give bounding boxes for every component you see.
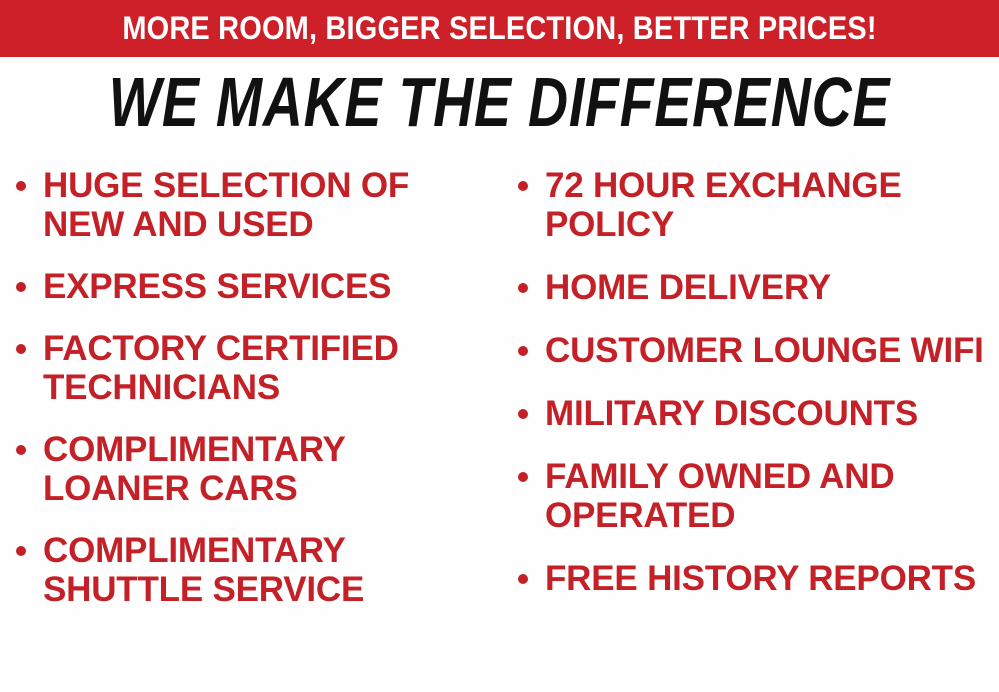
- bullet-dot-icon: [16, 445, 26, 455]
- list-item-label: 72 HOUR EXCHANGE POLICY: [545, 166, 999, 244]
- list-item: CUSTOMER LOUNGE WIFI: [518, 331, 999, 370]
- list-item-label: COMPLIMENTARY SHUTTLE SERVICE: [43, 531, 494, 609]
- bullet-dot-icon: [518, 283, 528, 293]
- bullet-dot-icon: [16, 181, 26, 191]
- list-item-label: HUGE SELECTION OF NEW AND USED: [43, 166, 494, 244]
- bullet-dot-icon: [518, 574, 528, 584]
- bullet-dot-icon: [518, 346, 528, 356]
- list-item: FAMILY OWNED AND OPERATED: [518, 457, 999, 535]
- bullet-dot-icon: [518, 472, 528, 482]
- advertisement-banner-page: MORE ROOM, BIGGER SELECTION, BETTER PRIC…: [0, 0, 999, 692]
- list-item: EXPRESS SERVICES: [16, 267, 494, 306]
- list-item: FREE HISTORY REPORTS: [518, 559, 999, 598]
- list-item: MILITARY DISCOUNTS: [518, 394, 999, 433]
- list-item-label: FREE HISTORY REPORTS: [545, 559, 999, 598]
- top-promo-banner: MORE ROOM, BIGGER SELECTION, BETTER PRIC…: [0, 0, 999, 57]
- list-item: FACTORY CERTIFIED TECHNICIANS: [16, 329, 494, 407]
- list-item-label: MILITARY DISCOUNTS: [545, 394, 999, 433]
- bullet-dot-icon: [16, 546, 26, 556]
- page-title: WE MAKE THE DIFFERENCE: [92, 68, 906, 137]
- list-item: COMPLIMENTARY SHUTTLE SERVICE: [16, 531, 494, 609]
- benefits-column-left: HUGE SELECTION OF NEW AND USED EXPRESS S…: [16, 166, 494, 632]
- list-item-label: HOME DELIVERY: [545, 268, 999, 307]
- list-item-label: EXPRESS SERVICES: [43, 267, 494, 306]
- list-item: COMPLIMENTARY LOANER CARS: [16, 430, 494, 508]
- list-item: 72 HOUR EXCHANGE POLICY: [518, 166, 999, 244]
- list-item-label: COMPLIMENTARY LOANER CARS: [43, 430, 494, 508]
- bullet-dot-icon: [518, 409, 528, 419]
- bullet-dot-icon: [16, 282, 26, 292]
- bullet-dot-icon: [518, 181, 528, 191]
- list-item: HUGE SELECTION OF NEW AND USED: [16, 166, 494, 244]
- list-item-label: FAMILY OWNED AND OPERATED: [545, 457, 999, 535]
- promo-banner-text: MORE ROOM, BIGGER SELECTION, BETTER PRIC…: [47, 0, 951, 57]
- list-item: HOME DELIVERY: [518, 268, 999, 307]
- list-item-label: CUSTOMER LOUNGE WIFI: [545, 331, 999, 370]
- list-item-label: FACTORY CERTIFIED TECHNICIANS: [43, 329, 494, 407]
- benefits-column-right: 72 HOUR EXCHANGE POLICY HOME DELIVERY CU…: [518, 166, 999, 622]
- bullet-dot-icon: [16, 344, 26, 354]
